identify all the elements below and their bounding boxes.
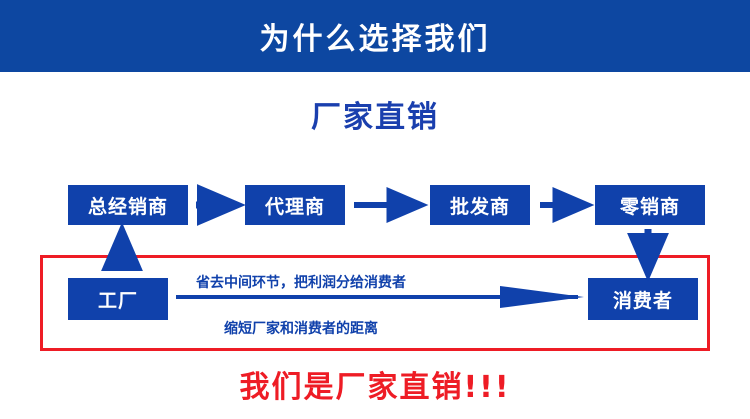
caption-save-middlemen: 省去中间环节，把利润分给消费者 (196, 272, 406, 292)
chain-box-retailer: 零销商 (595, 185, 705, 225)
factory-box: 工厂 (68, 278, 168, 320)
chain-box-label: 代理商 (265, 192, 325, 219)
header-banner: 为什么选择我们 (0, 0, 750, 72)
consumer-box: 消费者 (588, 278, 698, 320)
chain-box-wholesaler: 批发商 (430, 185, 530, 225)
factory-box-label: 工厂 (98, 286, 138, 313)
consumer-box-label: 消费者 (613, 286, 673, 313)
subtitle: 厂家直销 (0, 92, 750, 136)
footer-slogan: 我们是厂家直销!!! (0, 362, 750, 406)
chain-box-label: 零销商 (620, 192, 680, 219)
caption-shorten-distance: 缩短厂家和消费者的距离 (224, 318, 378, 338)
diagram-canvas: 为什么选择我们 厂家直销 总经销商 代理商 批发商 零销商 工厂 消费者 省去中… (0, 0, 750, 419)
page-title: 为什么选择我们 (260, 14, 491, 58)
chain-box-label: 批发商 (450, 192, 510, 219)
chain-box-agent: 代理商 (245, 185, 345, 225)
chain-box-label: 总经销商 (88, 192, 168, 219)
chain-box-general-distributor: 总经销商 (68, 185, 188, 225)
